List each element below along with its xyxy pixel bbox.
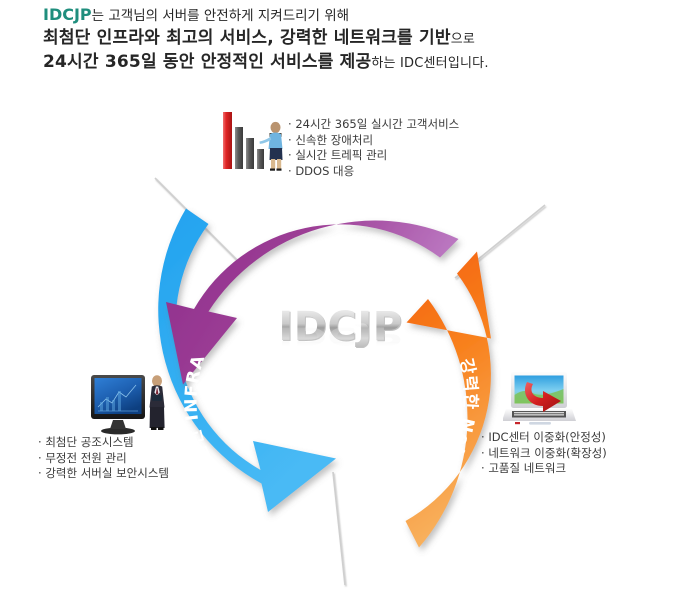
laptop-red-arrow-icon [503,368,577,430]
cycle-diagram: 최고의 서비스 강력한 Network 최첨단 INFRA IDCJP IDCJ… [0,85,680,600]
connector-line-bottom [333,472,345,585]
header-line-1-rest: 는 고객님의 서버를 안전하게 지켜드리기 위해 [92,8,349,24]
bullets-infra-list: 최첨단 공조시스템 무정전 전원 관리 강력한 서버실 보안시스템 [38,435,169,482]
desktop-monitor-businessman-icon [88,367,176,437]
header-line-2-tail: 으로 [451,32,475,47]
list-item: IDC센터 이중화(안정성) [481,430,607,446]
list-item: DDOS 대응 [288,164,459,180]
list-item: 강력한 서버실 보안시스템 [38,466,169,482]
list-item: 24시간 365일 실시간 고객서비스 [288,117,459,133]
arrow-label-infra: 최첨단 INFRA [182,352,223,481]
bar-chart-presenter-icon [218,107,290,173]
header-line-2: 최첨단 인프라와 최고의 서비스, 강력한 네트워크를 기반으로 [43,27,643,51]
header-line-3: 24시간 365일 동안 안정적인 서비스를 제공하는 IDC센터입니다. [43,51,643,75]
arrow-label-network: 강력한 Network [416,357,480,504]
brand-name: IDCJP [43,5,92,24]
header-line-3-tail: 하는 IDC센터입니다. [371,56,488,71]
list-item: 무정전 전원 관리 [38,451,169,467]
header-line-2-bold: 최첨단 인프라와 최고의 서비스, 강력한 네트워크를 기반 [43,28,451,48]
list-item: 고품질 네트워크 [481,461,607,477]
header-line-3-bold: 24시간 365일 동안 안정적인 서비스를 제공 [43,52,371,72]
arrow-label-service: 최고의 서비스 [281,249,399,280]
bullets-network-list: IDC센터 이중화(안정성) 네트워크 이중화(확장성) 고품질 네트워크 [481,430,607,477]
arrow-service[interactable] [166,221,459,385]
list-item: 실시간 트레픽 관리 [288,148,459,164]
list-item: 네트워크 이중화(확장성) [481,446,607,462]
header-line-1: IDCJP는 고객님의 서버를 안전하게 지켜드리기 위해 [43,4,643,27]
list-item: 신속한 장애처리 [288,133,459,149]
bullets-service-list: 24시간 365일 실시간 고객서비스 신속한 장애처리 실시간 트레픽 관리 … [288,117,459,179]
header-text-block: IDCJP는 고객님의 서버를 안전하게 지켜드리기 위해 최첨단 인프라와 최… [43,4,643,75]
list-item: 최첨단 공조시스템 [38,435,169,451]
